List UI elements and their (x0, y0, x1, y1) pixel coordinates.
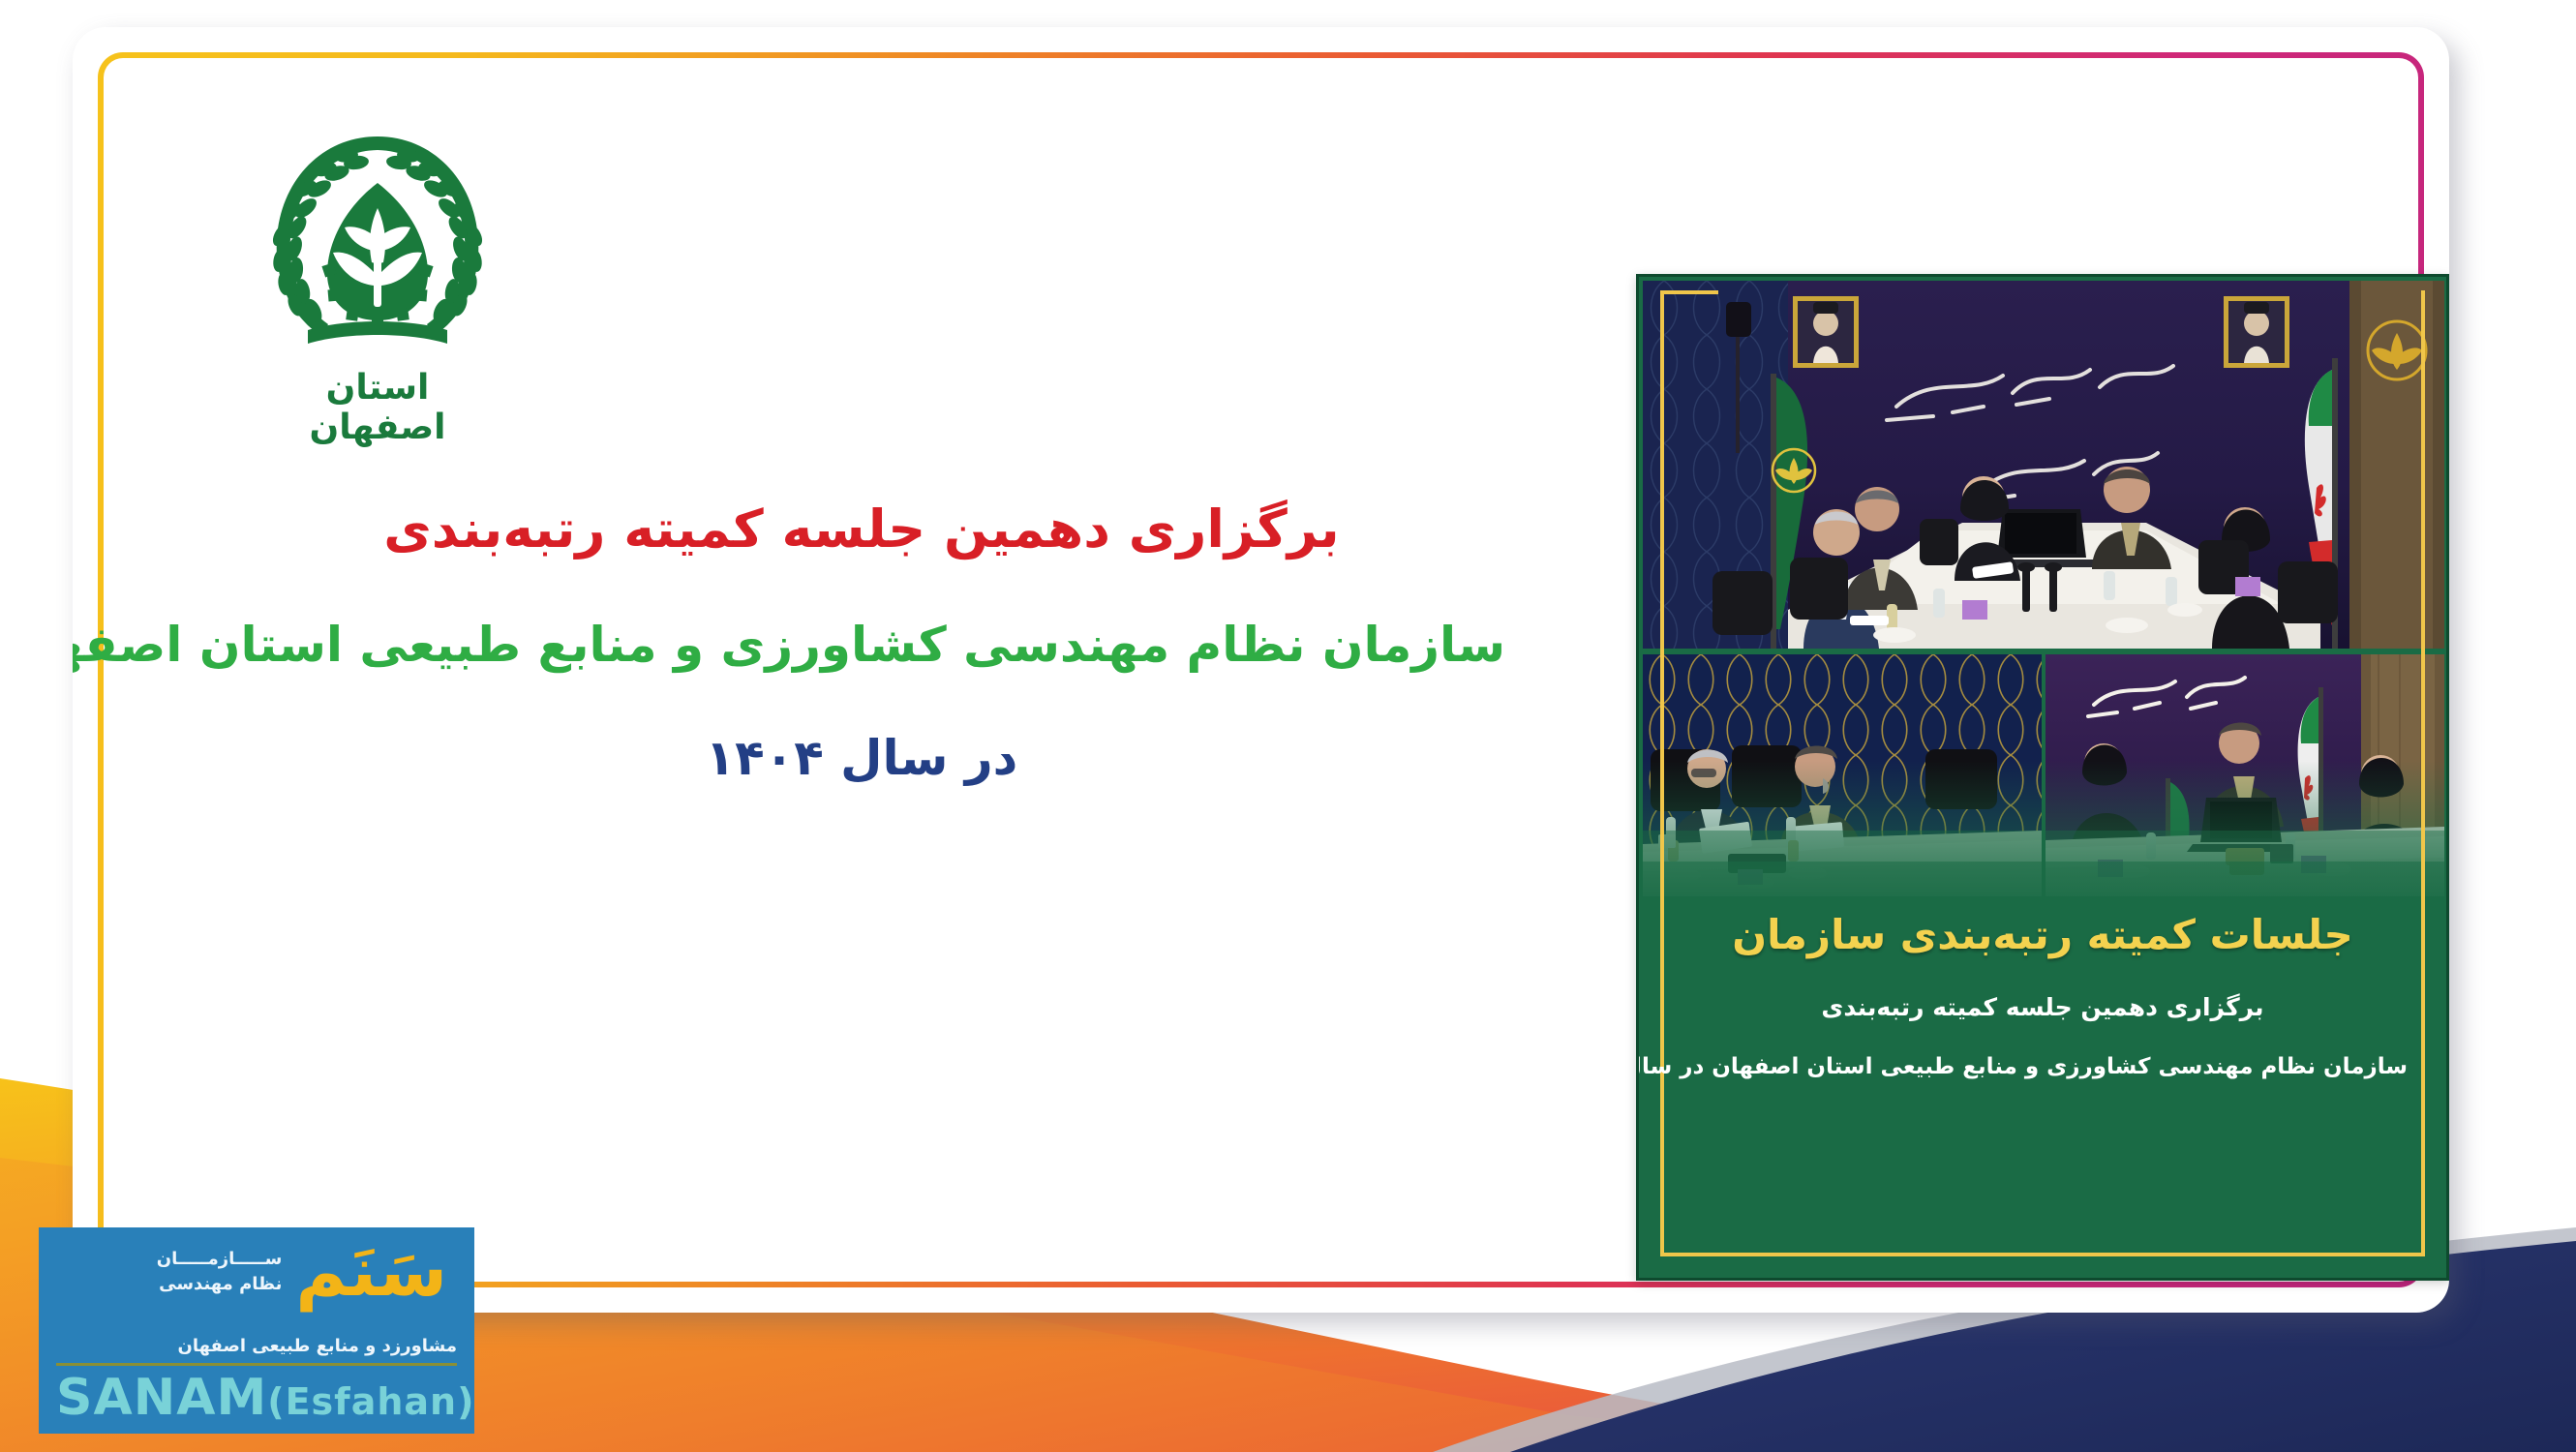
event-poster: جلسات کمیته رتبه‌بندی سازمان برگزاری دهم… (1636, 274, 2449, 1281)
headline-line-3: در سال ۱۴۰۴ (218, 723, 1505, 794)
organization-logo: استان اصفهان (252, 119, 503, 447)
sanam-logo: سَنَم ســـــازمـــــان نظام مهندسی مشاور… (39, 1227, 474, 1434)
headline-block: برگزاری دهمین جلسه کمیته رتبه‌بندی سازما… (218, 492, 1505, 793)
two-members-signing-photo (1643, 654, 2042, 896)
sanam-persian-lines: ســـــازمـــــان نظام مهندسی (157, 1247, 283, 1297)
poster-title: جلسات کمیته رتبه‌بندی سازمان (1678, 911, 2408, 958)
content-card: استان اصفهان برگزاری دهمین جلسه کمیته رت… (73, 27, 2449, 1313)
headline-line-2: سازمان نظام مهندسی کشاورزی و منابع طبیعی… (218, 610, 1505, 681)
members-at-table-photo (2046, 654, 2444, 896)
sanam-fa-line-1: ســـــازمـــــان (157, 1247, 283, 1272)
sanam-fa-line-2: نظام مهندسی (157, 1272, 283, 1297)
poster-text-block: جلسات کمیته رتبه‌بندی سازمان برگزاری دهم… (1678, 911, 2408, 1079)
sanam-fa-line-3: مشاورزد و منابع طبیعی اصفهان (56, 1336, 457, 1356)
sanam-english-city: (Esfahan) (267, 1380, 474, 1423)
poster-subtitle-2: سازمان نظام مهندسی کشاورزی و منابع طبیعی… (1678, 1054, 2408, 1079)
agricultural-crest-icon (252, 119, 503, 366)
sanam-english-main: SANAM (56, 1369, 267, 1427)
poster-slide: استان اصفهان برگزاری دهمین جلسه کمیته رت… (0, 0, 2576, 1452)
sanam-english-name: SANAM(Esfahan) (56, 1369, 474, 1427)
meeting-room-wide-photo (1643, 281, 2444, 649)
poster-subtitle-1: برگزاری دهمین جلسه کمیته رتبه‌بندی (1678, 993, 2408, 1021)
sanam-wordmark: سَنَم (295, 1235, 447, 1309)
sanam-divider (56, 1363, 457, 1366)
headline-line-1: برگزاری دهمین جلسه کمیته رتبه‌بندی (218, 492, 1505, 567)
org-logo-caption: استان اصفهان (252, 368, 503, 447)
sanam-logo-top: سَنَم ســـــازمـــــان نظام مهندسی (39, 1235, 465, 1309)
